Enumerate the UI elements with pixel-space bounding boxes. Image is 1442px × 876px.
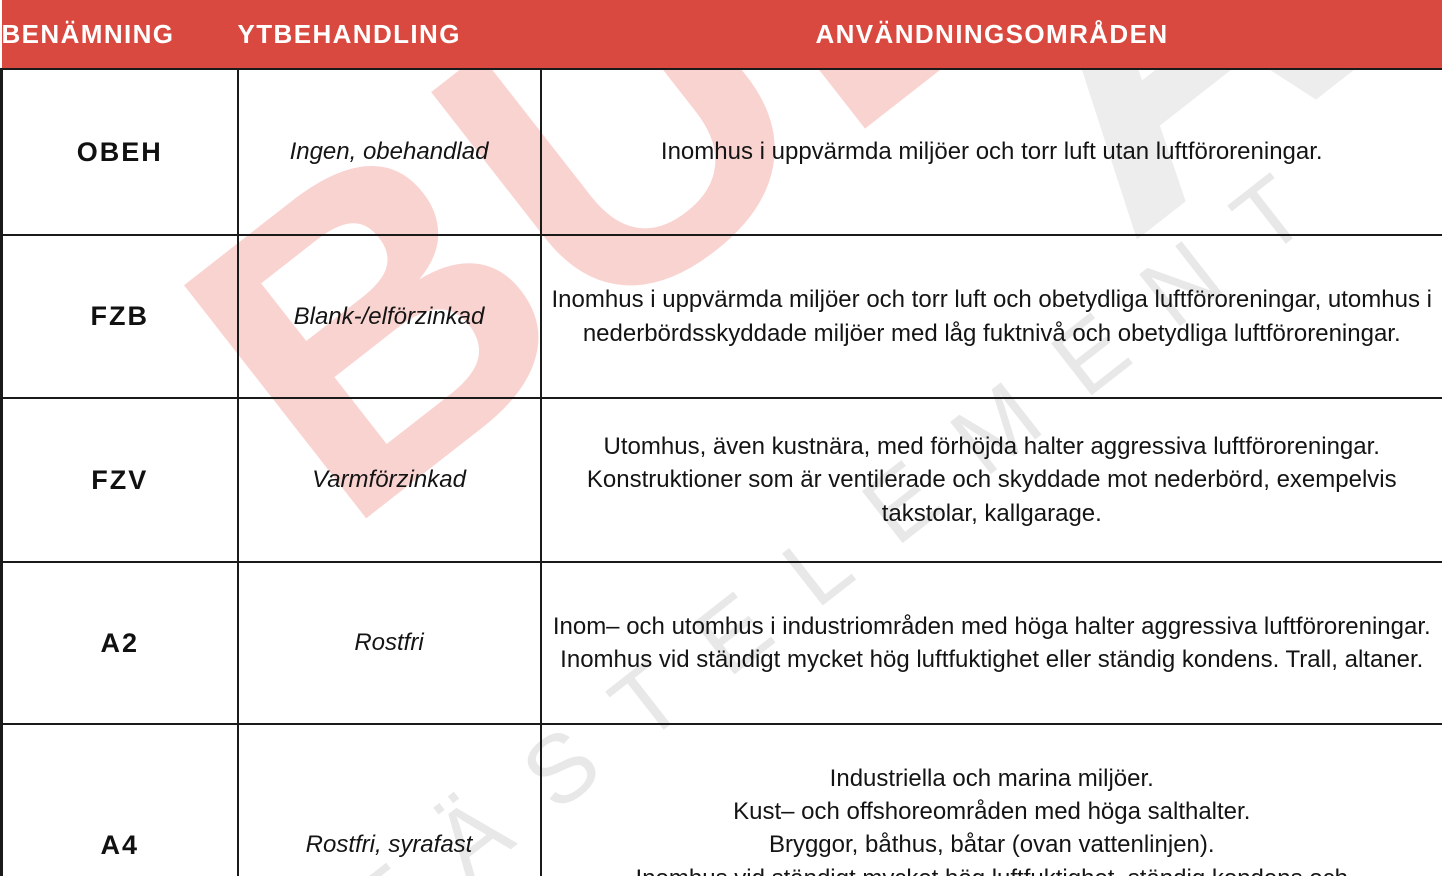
column-header-ytbehandling: YTBEHANDLING xyxy=(238,0,541,69)
cell-anvandning: Industriella och marina miljöer.Kust– oc… xyxy=(541,724,1442,876)
cell-anvandning: Inom– och utomhus i industriområden med … xyxy=(541,562,1442,724)
cell-benamning: A2 xyxy=(2,562,238,724)
table-header: BENÄMNING YTBEHANDLING ANVÄNDNINGSOMRÅDE… xyxy=(2,0,1442,69)
surface-treatment-table: BENÄMNING YTBEHANDLING ANVÄNDNINGSOMRÅDE… xyxy=(0,0,1442,876)
cell-benamning: A4 xyxy=(2,724,238,876)
table-body: OBEH Ingen, obehandlad Inomhus i uppvärm… xyxy=(2,69,1442,876)
usage-line: Bryggor, båthus, båtar (ovan vattenlinje… xyxy=(548,828,1437,861)
cell-ytbehandling: Ingen, obehandlad xyxy=(238,69,541,235)
usage-line: Inomhus vid ständigt mycket hög luftfukt… xyxy=(548,862,1437,876)
cell-anvandning: Inomhus i uppvärmda miljöer och torr luf… xyxy=(541,69,1442,235)
table-row: OBEH Ingen, obehandlad Inomhus i uppvärm… xyxy=(2,69,1442,235)
table-row: A4 Rostfri, syrafast Industriella och ma… xyxy=(2,724,1442,876)
spec-table-page: AB BULT FÄSTELEMENT BENÄMNING YTBEHANDLI… xyxy=(0,0,1442,876)
cell-benamning: FZV xyxy=(2,398,238,562)
usage-line: Kust– och offshoreområden med höga salth… xyxy=(548,795,1437,828)
cell-ytbehandling: Rostfri xyxy=(238,562,541,724)
cell-benamning: OBEH xyxy=(2,69,238,235)
usage-line: Industriella och marina miljöer. xyxy=(548,762,1437,795)
table-header-row: BENÄMNING YTBEHANDLING ANVÄNDNINGSOMRÅDE… xyxy=(2,0,1442,69)
cell-benamning: FZB xyxy=(2,235,238,398)
column-header-anvandning: ANVÄNDNINGSOMRÅDEN xyxy=(541,0,1442,69)
table-container: BENÄMNING YTBEHANDLING ANVÄNDNINGSOMRÅDE… xyxy=(0,0,1442,876)
table-row: FZV Varmförzinkad Utomhus, även kustnära… xyxy=(2,398,1442,562)
cell-ytbehandling: Rostfri, syrafast xyxy=(238,724,541,876)
table-row: FZB Blank-/elförzinkad Inomhus i uppvärm… xyxy=(2,235,1442,398)
cell-ytbehandling: Blank-/elförzinkad xyxy=(238,235,541,398)
column-header-benamning: BENÄMNING xyxy=(2,0,238,69)
cell-ytbehandling: Varmförzinkad xyxy=(238,398,541,562)
table-row: A2 Rostfri Inom– och utomhus i industrio… xyxy=(2,562,1442,724)
cell-anvandning: Inomhus i uppvärmda miljöer och torr luf… xyxy=(541,235,1442,398)
cell-anvandning: Utomhus, även kustnära, med förhöjda hal… xyxy=(541,398,1442,562)
